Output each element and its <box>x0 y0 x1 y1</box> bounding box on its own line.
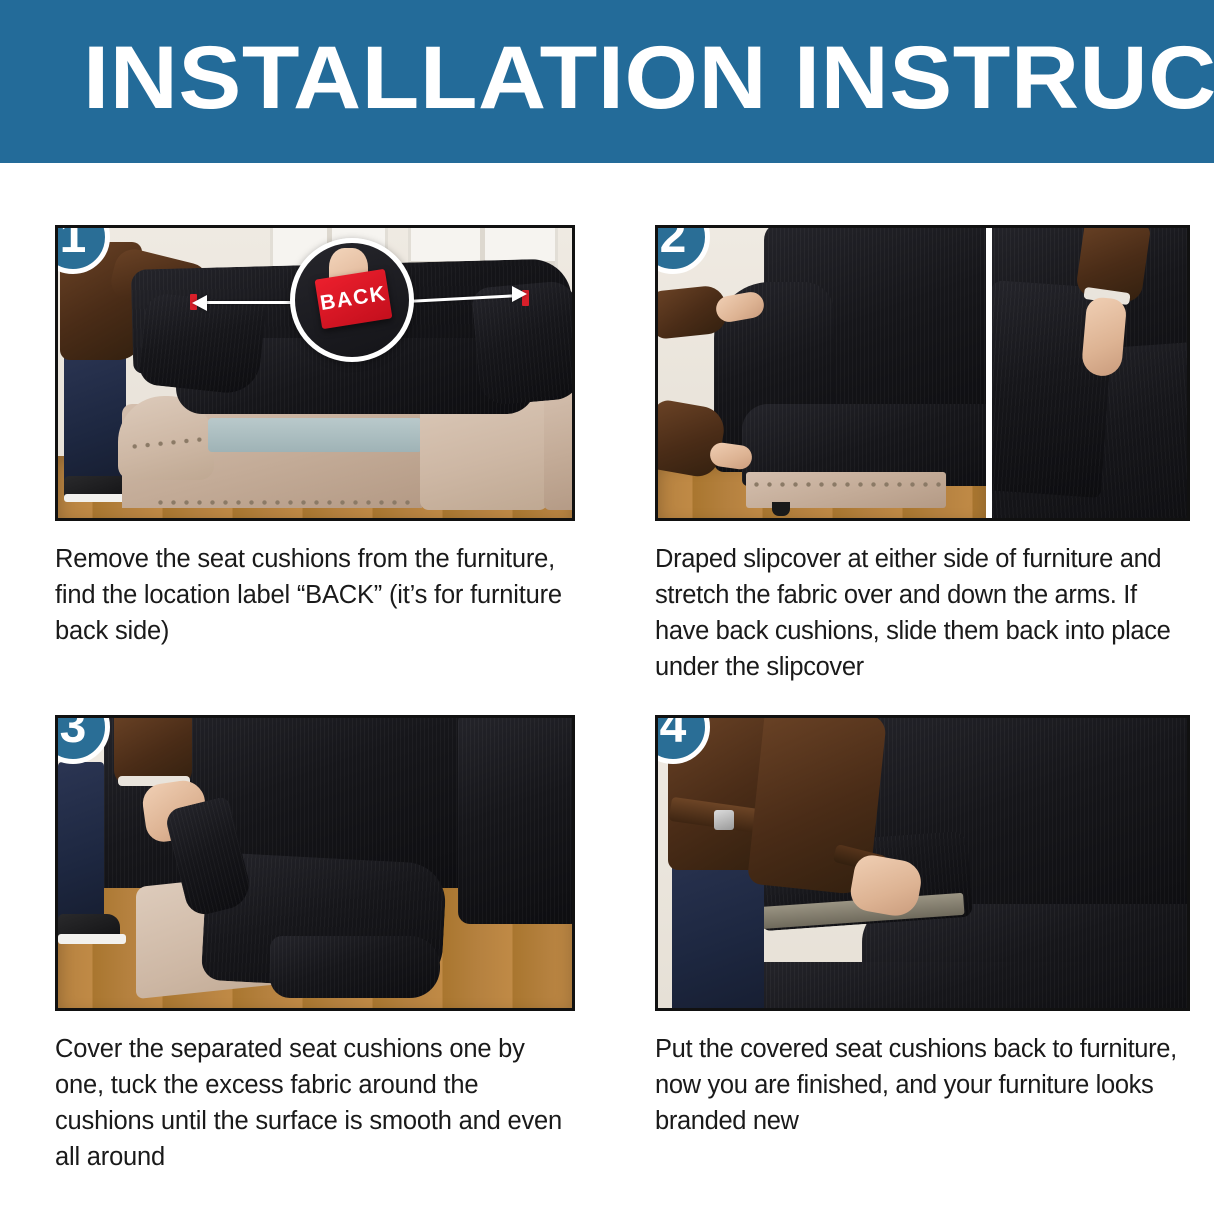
arrow-left-head <box>192 295 207 311</box>
step-2-photo: 2 <box>655 225 1190 521</box>
sofa-arm-right <box>458 718 572 924</box>
back-label-text: BACK <box>314 269 392 330</box>
step-3-photo: 3 <box>55 715 575 1011</box>
step-3-caption: Cover the separated seat cushions one by… <box>55 1031 575 1175</box>
step-2: 2 Draped slipcover at either side of fur… <box>655 225 1190 685</box>
step-1: BACK 1 Remove the seat cushions from the… <box>55 225 575 649</box>
back-label-tag: BACK <box>314 269 392 330</box>
step-4-photo: 4 <box>655 715 1190 1011</box>
header-banner: INSTALLATION INSTRUCTION <box>0 0 1214 163</box>
step-4-caption: Put the covered seat cushions back to fu… <box>655 1031 1190 1139</box>
step-1-caption: Remove the seat cushions from the furnit… <box>55 541 575 649</box>
step-3-scene <box>58 718 572 1008</box>
installation-instruction-page: INSTALLATION INSTRUCTION <box>0 0 1214 1214</box>
step-4: 4 Put the covered seat cushions back to … <box>655 715 1190 1139</box>
step-3: 3 Cover the separated seat cushions one … <box>55 715 575 1175</box>
shoe-sole <box>58 934 126 944</box>
sofa-lower-front <box>754 962 1187 1008</box>
step-2-caption: Draped slipcover at either side of furni… <box>655 541 1190 685</box>
arrow-right-head <box>512 286 527 302</box>
nailhead-trim-bottom <box>154 496 414 509</box>
cover-edge-front <box>270 936 440 998</box>
back-label-callout: BACK <box>290 238 414 362</box>
sofa-foot <box>772 502 790 516</box>
step-2-scene <box>658 228 1187 518</box>
step-2-right-panel <box>992 228 1187 518</box>
detached-cushion-2 <box>544 388 572 510</box>
sofa-deck <box>208 418 422 452</box>
belt-buckle <box>714 810 734 830</box>
step-1-scene: BACK <box>58 228 572 518</box>
person-jeans <box>64 346 126 486</box>
panel-divider <box>986 228 992 518</box>
step-2-left-panel <box>658 228 986 518</box>
person-jeans <box>58 762 104 928</box>
nailhead-trim-left <box>750 478 946 491</box>
step-1-photo: BACK 1 <box>55 225 575 521</box>
page-title: INSTALLATION INSTRUCTION <box>83 27 1214 127</box>
step-4-scene <box>658 718 1187 1008</box>
steps-grid: BACK 1 Remove the seat cushions from the… <box>0 163 1214 1214</box>
